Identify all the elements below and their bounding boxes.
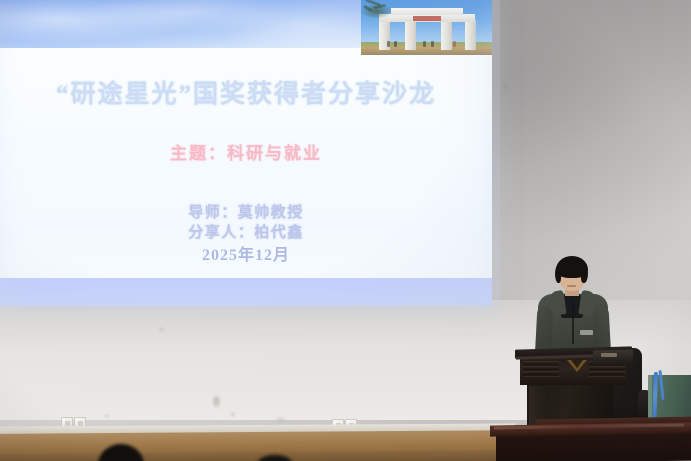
slide-credits-block: 导师：莫帅教授 分享人：柏代鑫 2025年12月 [0,203,492,269]
projected-slide: “研途星光”国奖获得者分享沙龙 主题：科研与就业 导师：莫帅教授 分享人：柏代鑫… [0,0,492,306]
slide-credit-advisor: 导师：莫帅教授 [0,203,492,223]
lectern-slats-left [523,361,559,377]
gate-person [453,41,456,47]
wall-smudge [160,328,163,331]
gate-person [394,41,397,47]
gate-pillar [465,20,476,50]
gate-person [431,41,434,47]
slide-footer-band [0,278,492,306]
lectern-control-label [601,353,617,357]
wall-smudge [503,85,508,88]
presentation-room-scene: “研途星光”国奖获得者分享沙龙 主题：科研与就业 导师：莫帅教授 分享人：柏代鑫… [0,0,691,461]
presenter-mouth [567,285,576,287]
wall-smudge [104,415,109,417]
wall-smudge [231,413,235,416]
gate-pillar [441,20,452,50]
lectern-emblem-inner [571,360,583,368]
gate-person [387,41,390,47]
campus-gateway-photo [361,0,492,55]
wall-smudge [276,418,285,420]
presenter-chest-logo [580,330,593,335]
gate-sign [413,16,441,21]
slide-credit-presenter: 分享人：柏代鑫 [0,223,492,243]
gate-person [423,41,426,47]
presenter-hair-left [555,266,561,283]
slide-date: 2025年12月 [0,243,492,269]
front-desk [490,424,691,461]
presenter-zipper [572,300,574,344]
slide-title: “研途星光”国奖获得者分享沙龙 [0,74,492,110]
gate-top-cap [391,8,463,15]
gate-pillar [405,20,416,50]
presenter-hair-right [581,266,588,283]
wall-smudge [213,396,220,407]
desk-front-panel [496,433,691,461]
slide-subtitle: 主题：科研与就业 [0,139,492,164]
lectern-control-panel[interactable] [593,350,633,365]
